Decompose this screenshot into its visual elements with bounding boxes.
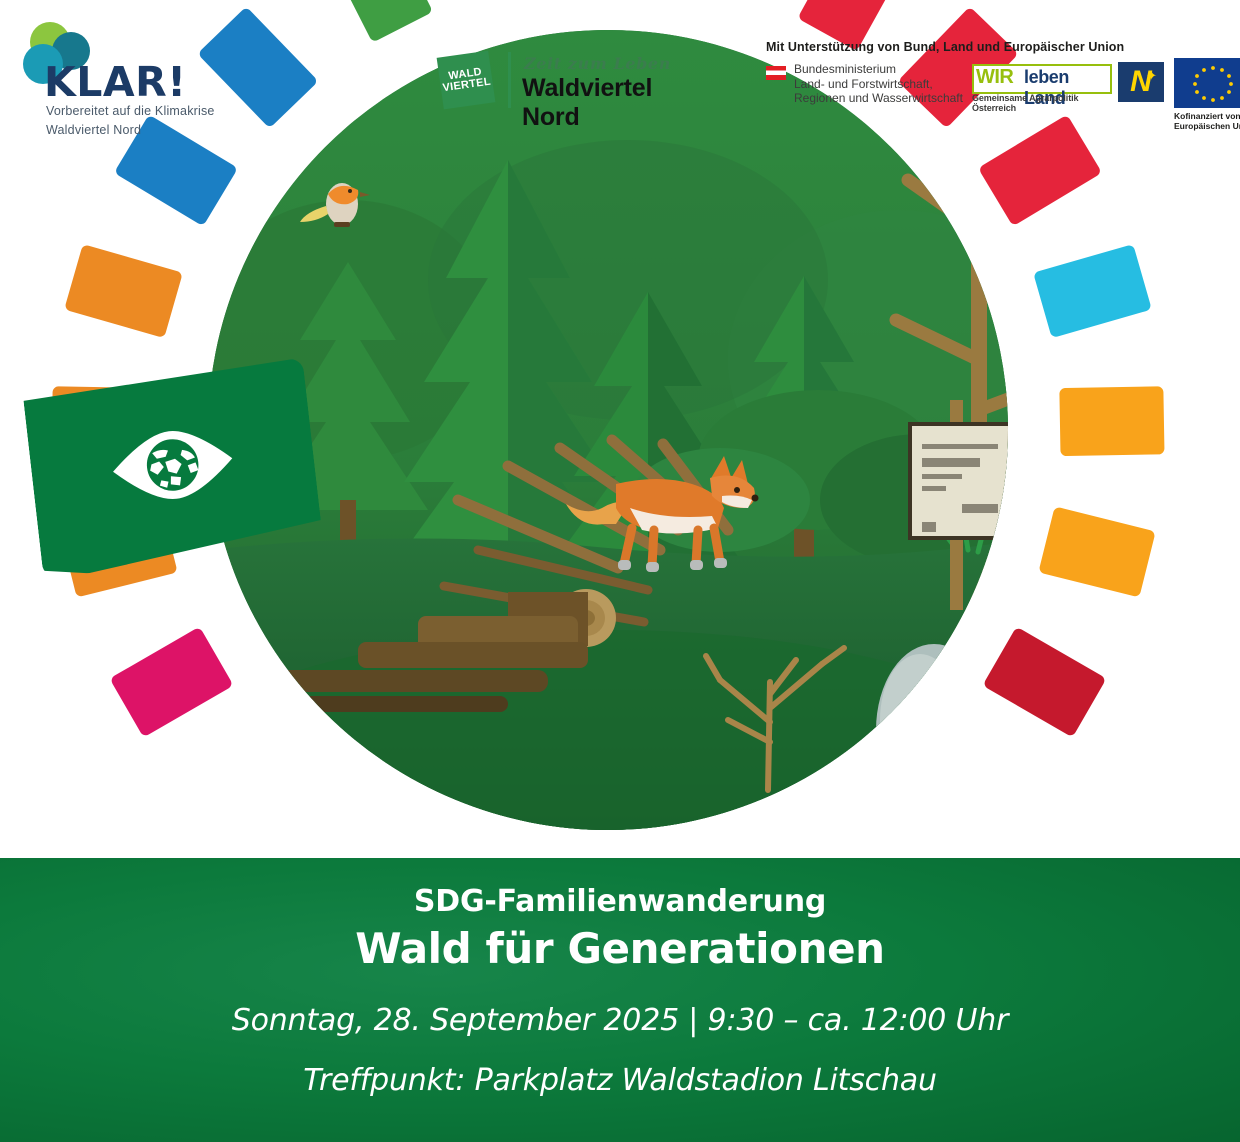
event-title: Wald für Generationen (0, 924, 1240, 973)
ministry-line3: Regionen und Wasserwirtschaft (794, 91, 963, 106)
wll-caption: Gemeinsame Agrarpolitik Österreich (972, 93, 1112, 113)
event-subtitle: SDG-Familienwanderung (0, 884, 1240, 919)
klar-tagline: Vorbereitet auf die Klimakrise (46, 104, 215, 118)
noe-star-icon: ✦ (1146, 68, 1157, 84)
eu-caption-line1: Kofinanziert von der (1174, 111, 1240, 121)
ministry-line2: Land- und Forstwirtschaft, (794, 77, 963, 92)
header-logos: KLAR! Vorbereitet auf die Klimakrise Wal… (0, 0, 1240, 140)
eu-stars-icon (1174, 58, 1240, 108)
event-date: Sonntag, 28. September 2025 | 9:30 – ca.… (0, 1003, 1240, 1038)
klar-logo: KLAR! Vorbereitet auf die Klimakrise Wal… (12, 18, 242, 128)
klar-wordmark: KLAR! (44, 62, 186, 103)
eye-globe-icon (106, 422, 239, 508)
eu-caption-line2: Europäischen Union (1174, 121, 1240, 131)
wv-divider (508, 52, 511, 108)
austria-flag-icon (766, 66, 786, 80)
wll-word1: WIR (976, 66, 1013, 89)
sdg-eye-banner (22, 358, 324, 579)
funding-support-line: Mit Unterstützung von Bund, Land und Eur… (766, 40, 1124, 54)
waldviertel-nord-logo: WALD VIERTEL Zeit zum Leben Waldviertel … (440, 50, 700, 112)
event-info-band: SDG-Familienwanderung Wald für Generatio… (0, 858, 1240, 1142)
funding-logos: Mit Unterstützung von Bund, Land und Eur… (762, 40, 1232, 130)
wv-name: Waldviertel Nord (522, 74, 700, 132)
niederoesterreich-logo: N ✦ (1118, 62, 1164, 102)
ministry-line1: Bundesministerium (794, 62, 963, 77)
klar-region: Waldviertel Nord (46, 123, 141, 137)
poster: KLAR! Vorbereitet auf die Klimakrise Wal… (0, 0, 1240, 1142)
waldviertel-mark-icon: WALD VIERTEL (437, 51, 496, 110)
event-meeting-point: Treffpunkt: Parkplatz Waldstadion Litsch… (0, 1063, 1240, 1098)
wv-script: Zeit zum Leben (524, 54, 671, 73)
